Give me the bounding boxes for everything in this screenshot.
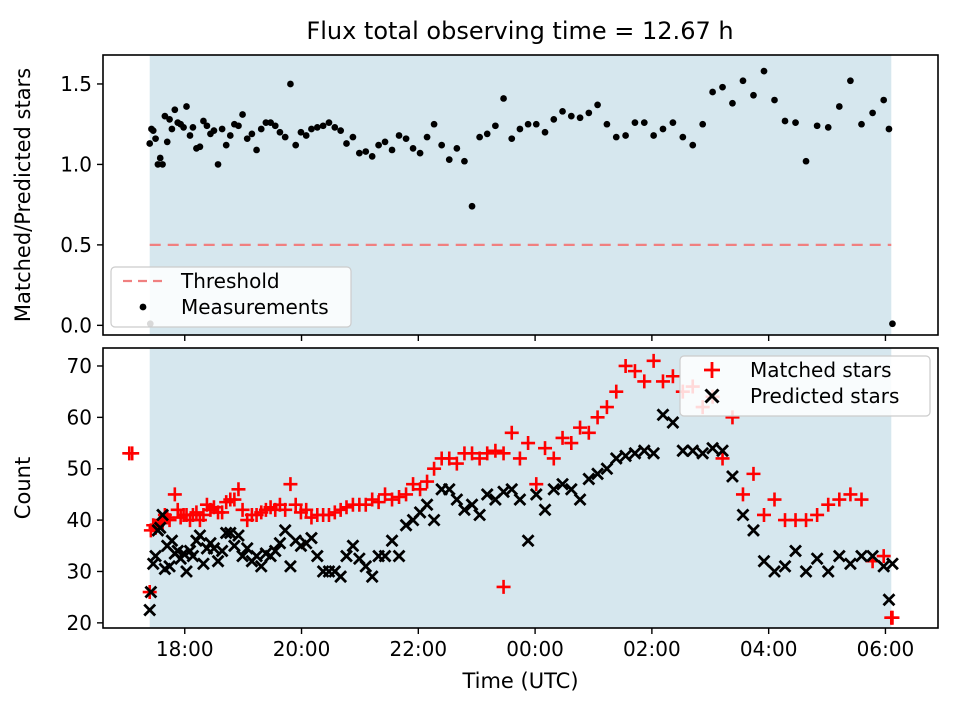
data-point bbox=[169, 126, 176, 133]
data-point bbox=[803, 158, 810, 165]
y-tick-label: 30 bbox=[67, 559, 92, 583]
data-point bbox=[847, 77, 854, 84]
data-point bbox=[424, 134, 431, 141]
data-point bbox=[227, 132, 234, 139]
legend-label: Threshold bbox=[180, 269, 280, 293]
data-point bbox=[632, 119, 639, 126]
matplotlib-figure: Flux total observing time = 12.67 h0.00.… bbox=[0, 0, 960, 720]
data-point bbox=[469, 203, 476, 210]
x-tick-label: 18:00 bbox=[156, 637, 214, 661]
data-point bbox=[180, 124, 187, 131]
data-point bbox=[729, 100, 736, 107]
data-point bbox=[277, 129, 284, 136]
data-point bbox=[641, 119, 648, 126]
data-point bbox=[461, 158, 468, 165]
figure-title: Flux total observing time = 12.67 h bbox=[306, 17, 733, 45]
y-tick-label: 0.0 bbox=[60, 313, 92, 337]
data-point bbox=[604, 121, 611, 128]
data-point bbox=[517, 126, 524, 133]
data-point bbox=[622, 132, 629, 139]
x-axis-label: Time (UTC) bbox=[461, 669, 578, 693]
data-point bbox=[204, 122, 211, 129]
x-tick-label: 00:00 bbox=[506, 637, 564, 661]
legend: ThresholdMeasurements bbox=[111, 267, 351, 327]
data-point bbox=[508, 135, 515, 142]
y-tick-label: 40 bbox=[67, 508, 92, 532]
x-tick-label: 20:00 bbox=[273, 637, 331, 661]
data-point bbox=[244, 135, 251, 142]
data-point bbox=[239, 111, 246, 118]
data-point bbox=[350, 134, 357, 141]
data-point bbox=[166, 116, 173, 123]
data-point bbox=[343, 140, 350, 147]
data-point bbox=[836, 103, 843, 110]
data-point bbox=[183, 103, 190, 110]
x-tick-label: 04:00 bbox=[740, 637, 798, 661]
data-point bbox=[889, 320, 896, 327]
data-point bbox=[320, 122, 327, 129]
data-point bbox=[814, 122, 821, 129]
data-point bbox=[215, 161, 222, 168]
data-point bbox=[825, 124, 832, 131]
data-point bbox=[308, 126, 315, 133]
data-point bbox=[356, 150, 363, 157]
legend-label: Matched stars bbox=[750, 358, 892, 382]
data-point bbox=[577, 114, 584, 121]
panel-top: 0.00.51.01.5Matched/Predicted starsThres… bbox=[11, 55, 938, 341]
y-tick-label: 20 bbox=[67, 611, 92, 635]
data-point bbox=[389, 147, 396, 154]
y-tick-label: 50 bbox=[67, 457, 92, 481]
y-tick-label: 1.0 bbox=[60, 152, 92, 176]
data-point bbox=[303, 132, 310, 139]
data-point bbox=[272, 122, 279, 129]
data-point bbox=[453, 145, 460, 152]
data-point bbox=[187, 132, 194, 139]
data-point bbox=[568, 113, 575, 120]
data-point bbox=[446, 156, 453, 163]
data-point bbox=[249, 130, 256, 137]
data-point bbox=[670, 119, 677, 126]
data-point bbox=[869, 110, 876, 117]
data-point bbox=[292, 142, 299, 149]
data-point bbox=[613, 134, 620, 141]
y-tick-label: 1.5 bbox=[60, 72, 92, 96]
x-tick-label: 22:00 bbox=[389, 637, 447, 661]
data-point bbox=[689, 142, 696, 149]
legend-marker-measurements bbox=[140, 304, 147, 311]
data-point bbox=[282, 134, 289, 141]
data-point bbox=[396, 132, 403, 139]
y-axis-label: Count bbox=[11, 457, 35, 519]
data-point bbox=[331, 124, 338, 131]
data-point bbox=[858, 121, 865, 128]
data-point bbox=[152, 135, 159, 142]
data-point bbox=[771, 97, 778, 104]
panel-bottom: 20304050607018:0020:0022:0000:0002:0004:… bbox=[11, 348, 938, 693]
data-point bbox=[650, 132, 657, 139]
data-point bbox=[559, 108, 566, 115]
data-point bbox=[438, 142, 445, 149]
legend-label: Measurements bbox=[181, 295, 329, 319]
data-point bbox=[484, 130, 491, 137]
data-point bbox=[382, 139, 389, 146]
data-point bbox=[740, 77, 747, 84]
data-point bbox=[410, 145, 417, 152]
data-point bbox=[326, 119, 333, 126]
data-point bbox=[159, 161, 166, 168]
data-point bbox=[164, 139, 171, 146]
data-point bbox=[258, 126, 265, 133]
data-point bbox=[287, 81, 294, 88]
data-point bbox=[550, 116, 557, 123]
data-point bbox=[660, 126, 667, 133]
data-point bbox=[223, 142, 230, 149]
data-point bbox=[525, 121, 532, 128]
data-point bbox=[533, 121, 540, 128]
data-point bbox=[403, 135, 410, 142]
data-point bbox=[699, 121, 706, 128]
x-tick-label: 06:00 bbox=[857, 637, 915, 661]
chart-canvas: Flux total observing time = 12.67 h0.00.… bbox=[0, 0, 960, 720]
data-point bbox=[679, 134, 686, 141]
data-point bbox=[190, 124, 197, 131]
data-point bbox=[886, 126, 893, 133]
data-point bbox=[542, 129, 549, 136]
data-point bbox=[219, 126, 226, 133]
legend: Matched starsPredicted stars bbox=[680, 356, 930, 416]
data-point bbox=[337, 127, 344, 134]
data-point bbox=[375, 142, 382, 149]
data-point bbox=[197, 143, 204, 150]
data-point bbox=[171, 106, 178, 113]
data-point bbox=[492, 122, 499, 129]
data-point bbox=[792, 119, 799, 126]
y-tick-label: 70 bbox=[67, 354, 92, 378]
data-point bbox=[880, 97, 887, 104]
data-point bbox=[362, 148, 369, 155]
data-point bbox=[750, 92, 757, 99]
data-point bbox=[719, 84, 726, 91]
data-point bbox=[782, 118, 789, 125]
data-point bbox=[369, 153, 376, 160]
data-point bbox=[476, 134, 483, 141]
data-point bbox=[157, 155, 164, 162]
data-point bbox=[500, 95, 507, 102]
x-tick-label: 02:00 bbox=[623, 637, 681, 661]
data-point bbox=[235, 122, 242, 129]
y-tick-label: 60 bbox=[67, 405, 92, 429]
y-axis-label: Matched/Predicted stars bbox=[11, 68, 35, 322]
data-point bbox=[146, 140, 153, 147]
data-point bbox=[431, 121, 438, 128]
y-tick-label: 0.5 bbox=[60, 233, 92, 257]
data-point bbox=[594, 102, 601, 109]
data-point bbox=[211, 127, 218, 134]
data-point bbox=[253, 147, 260, 154]
legend-label: Predicted stars bbox=[750, 384, 899, 408]
data-point bbox=[585, 110, 592, 117]
data-point bbox=[150, 127, 157, 134]
data-point bbox=[417, 150, 424, 157]
data-point bbox=[761, 68, 768, 75]
data-point bbox=[314, 124, 321, 131]
data-point bbox=[709, 89, 716, 96]
